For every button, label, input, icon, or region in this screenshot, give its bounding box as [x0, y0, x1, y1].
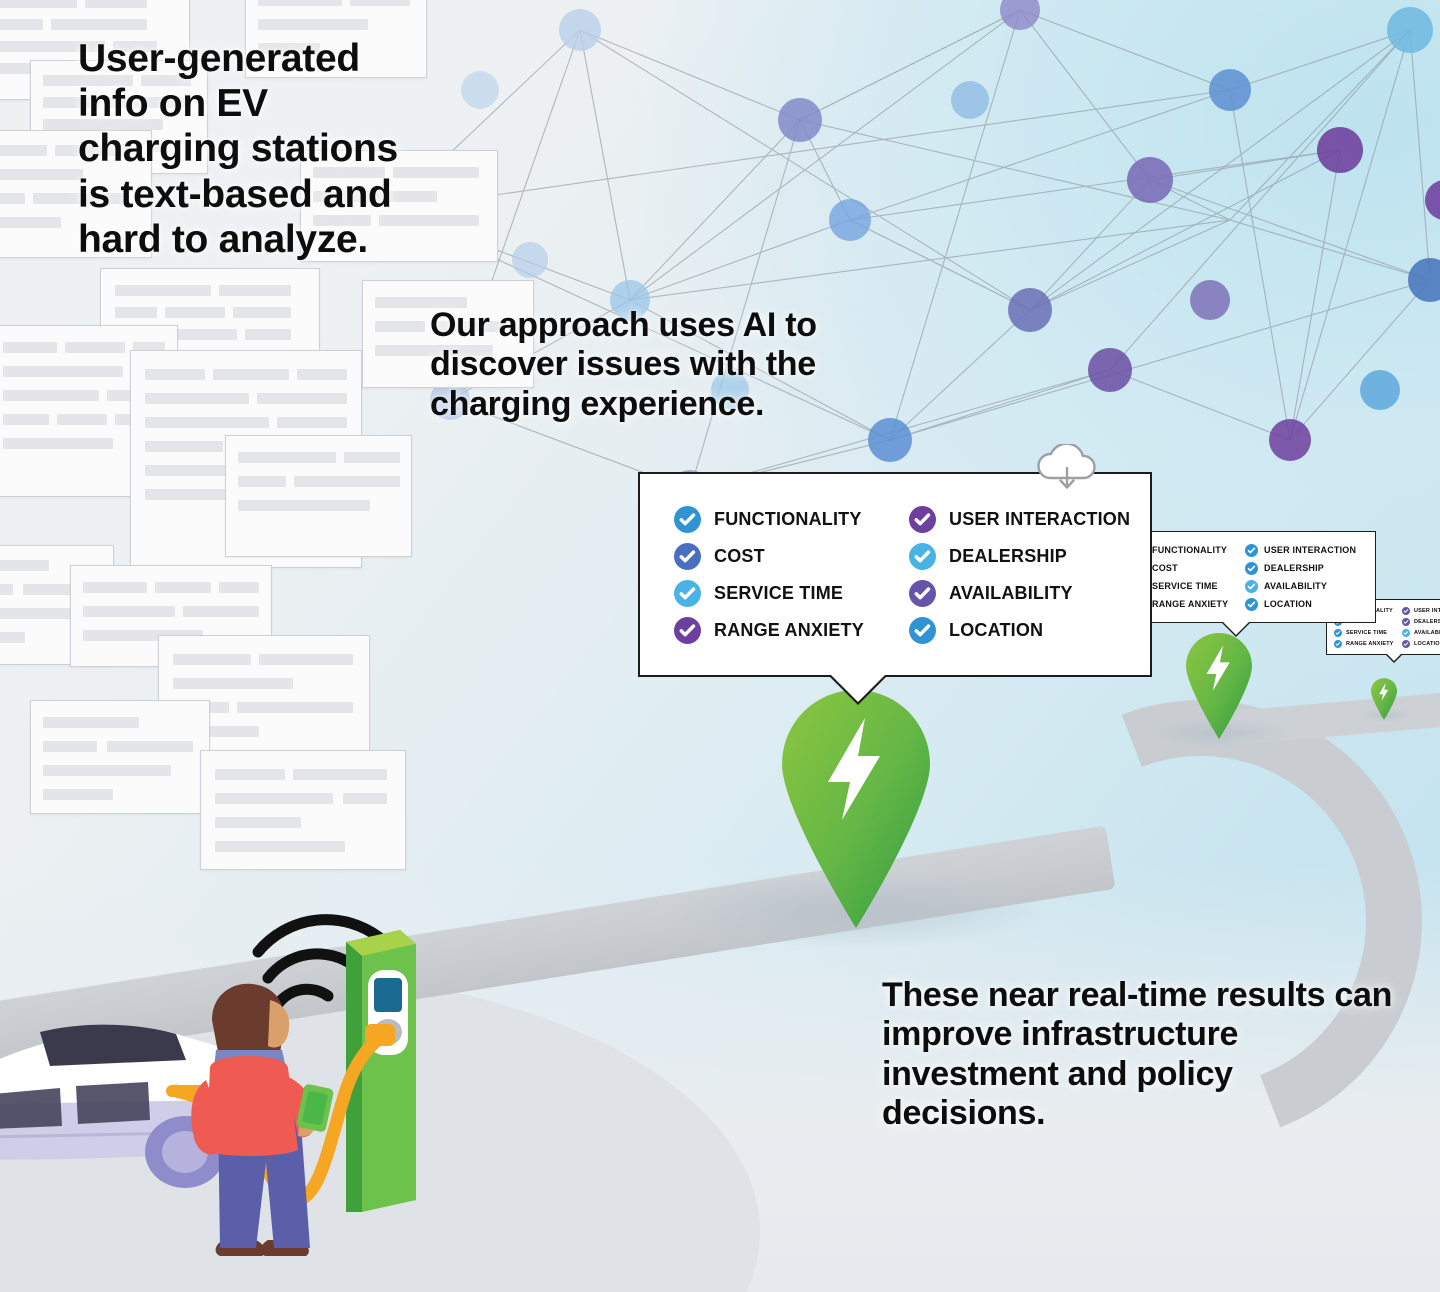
cloud-download-icon	[1030, 444, 1104, 490]
card-medium-right-column: USER INTERACTION DEALERSHIP AVAILABILITY…	[1245, 540, 1356, 614]
checklist-label: LOCATION	[1414, 641, 1440, 647]
callout-tail	[828, 675, 888, 705]
check-icon	[1402, 640, 1410, 648]
checklist-label: USER INTERACTION	[1414, 608, 1440, 614]
checklist-label: RANGE ANXIETY	[1346, 641, 1394, 647]
check-icon	[1402, 629, 1410, 637]
checklist-item-location: LOCATION	[909, 612, 1130, 649]
map-pin-charging-far[interactable]	[1371, 678, 1397, 720]
checklist-item-cost: COST	[674, 538, 909, 575]
checklist-item: LOCATION	[1402, 638, 1440, 649]
ev-charging-illustration	[0, 900, 440, 1292]
callout-tail	[1385, 654, 1403, 663]
checklist-label: LOCATION	[949, 620, 1043, 641]
check-icon	[909, 617, 936, 644]
checklist-item: USER INTERACTION	[1402, 605, 1440, 616]
checklist-label: RANGE ANXIETY	[1152, 599, 1228, 609]
headline-approach: Our approach uses AI to discover issues …	[430, 306, 930, 424]
checklist-label: FUNCTIONALITY	[714, 509, 862, 530]
map-pin-charging-near[interactable]	[782, 690, 930, 928]
checklist-item: DEALERSHIP	[1245, 559, 1356, 577]
checklist-label: SERVICE TIME	[1346, 630, 1387, 636]
checklist-item: AVAILABILITY	[1402, 627, 1440, 638]
checklist-label: COST	[714, 546, 765, 567]
card-main-left-column: FUNCTIONALITY COST SERVICE TIME RANGE AN…	[674, 496, 909, 653]
check-icon	[1334, 640, 1342, 648]
station-screen	[374, 978, 402, 1012]
checklist-item-availability: AVAILABILITY	[909, 575, 1130, 612]
callout-card-medium[interactable]: FUNCTIONALITY COST SERVICE TIME RANGE AN…	[1120, 531, 1376, 623]
checklist-item: AVAILABILITY	[1245, 577, 1356, 595]
check-icon	[674, 506, 701, 533]
checklist-label: USER INTERACTION	[1264, 545, 1356, 555]
check-icon	[909, 580, 936, 607]
checklist-item-service-time: SERVICE TIME	[674, 575, 909, 612]
checklist-label: DEALERSHIP	[1264, 563, 1324, 573]
headline-impact: These near real-time results can improve…	[882, 976, 1402, 1134]
check-icon	[1402, 607, 1410, 615]
checklist-item-user-interaction: USER INTERACTION	[909, 501, 1130, 538]
checklist-label: SERVICE TIME	[714, 583, 843, 604]
headline-problem: User-generated info on EV charging stati…	[78, 36, 438, 262]
callout-card-main[interactable]: FUNCTIONALITY COST SERVICE TIME RANGE AN…	[638, 472, 1152, 677]
check-icon	[1334, 629, 1342, 637]
checklist-label: AVAILABILITY	[1264, 581, 1327, 591]
check-icon	[1245, 562, 1258, 575]
checklist-label: SERVICE TIME	[1152, 581, 1218, 591]
checklist-item: USER INTERACTION	[1245, 541, 1356, 559]
card-main-right-column: USER INTERACTION DEALERSHIP AVAILABILITY…	[909, 496, 1130, 653]
checklist-label: DEALERSHIP	[1414, 619, 1440, 625]
checklist-item-dealership: DEALERSHIP	[909, 538, 1130, 575]
check-icon	[909, 543, 936, 570]
charge-connector	[365, 1024, 395, 1046]
checklist-item-functionality: FUNCTIONALITY	[674, 501, 909, 538]
check-icon	[674, 617, 701, 644]
checklist-item: DEALERSHIP	[1402, 616, 1440, 627]
check-icon	[1245, 598, 1258, 611]
checklist-label: AVAILABILITY	[949, 583, 1073, 604]
checklist-label: FUNCTIONALITY	[1152, 545, 1227, 555]
check-icon	[1245, 580, 1258, 593]
checklist-item: LOCATION	[1245, 595, 1356, 613]
check-icon	[1245, 544, 1258, 557]
check-icon	[674, 580, 701, 607]
check-icon	[1402, 618, 1410, 626]
checklist-label: USER INTERACTION	[949, 509, 1130, 530]
checklist-label: COST	[1152, 563, 1178, 573]
checklist-label: RANGE ANXIETY	[714, 620, 864, 641]
checklist-label: DEALERSHIP	[949, 546, 1067, 567]
infographic-canvas: FUNCTIONALITY COST SERVICE TIME RANGE AN…	[0, 0, 1440, 1292]
check-icon	[909, 506, 936, 533]
callout-tail	[1221, 622, 1251, 637]
check-icon	[674, 543, 701, 570]
card-small-right-column: USER INTERACTION DEALERSHIP AVAILABILITY…	[1402, 605, 1440, 649]
checklist-label: AVAILABILITY	[1414, 630, 1440, 636]
checklist-label: LOCATION	[1264, 599, 1312, 609]
map-pin-charging-mid[interactable]	[1186, 633, 1252, 739]
checklist-item-range-anxiety: RANGE ANXIETY	[674, 612, 909, 649]
checklist-item: RANGE ANXIETY	[1334, 638, 1402, 649]
person	[191, 984, 334, 1256]
checklist-item: SERVICE TIME	[1334, 627, 1402, 638]
